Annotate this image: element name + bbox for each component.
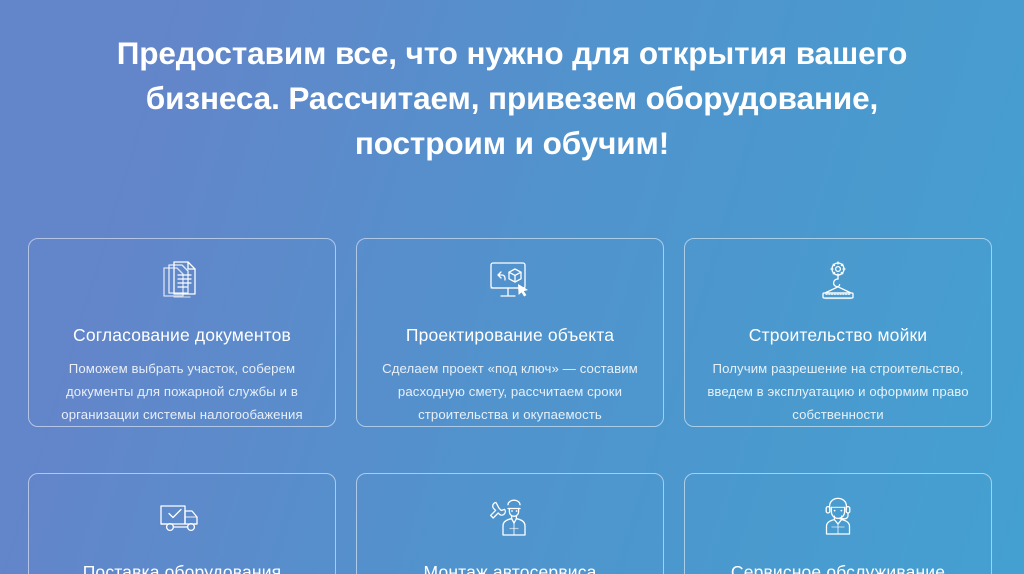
card-description: Сделаем проект «под ключ» — составим рас… [371, 357, 649, 426]
monitor-3d-design-icon [485, 260, 535, 306]
service-cards-grid: Согласование документов Поможем выбрать … [28, 238, 996, 574]
card-title: Проектирование объекта [406, 324, 614, 346]
service-card-equipment-delivery[interactable]: Поставка оборудования [28, 473, 336, 574]
page-title-line-3: построим и обучим! [0, 121, 1024, 166]
service-card-construction[interactable]: Строительство мойки Получим разрешение н… [684, 238, 992, 427]
service-card-design[interactable]: Проектирование объекта Сделаем проект «п… [356, 238, 664, 427]
card-title: Согласование документов [73, 324, 291, 346]
service-card-documents[interactable]: Согласование документов Поможем выбрать … [28, 238, 336, 427]
service-card-support[interactable]: Сервисное обслуживание [684, 473, 992, 574]
card-description: Поможем выбрать участок, соберем докумен… [43, 357, 321, 426]
card-title: Строительство мойки [749, 324, 927, 346]
support-headset-icon [816, 495, 860, 543]
card-description: Получим разрешение на строительство, вве… [699, 357, 977, 426]
service-card-installation[interactable]: Монтаж автосервиса [356, 473, 664, 574]
card-title: Монтаж автосервиса [424, 561, 597, 574]
page-title-line-2: бизнеса. Рассчитаем, привезем оборудован… [0, 76, 1024, 121]
worker-wrench-icon [486, 495, 534, 543]
page-title-line-1: Предоставим все, что нужно для открытия … [0, 31, 1024, 76]
crane-hook-icon [814, 260, 862, 306]
card-title: Поставка оборудования [83, 561, 282, 574]
documents-icon [160, 260, 204, 306]
card-title: Сервисное обслуживание [731, 561, 945, 574]
page-title: Предоставим все, что нужно для открытия … [0, 0, 1024, 166]
delivery-truck-check-icon [157, 495, 207, 543]
